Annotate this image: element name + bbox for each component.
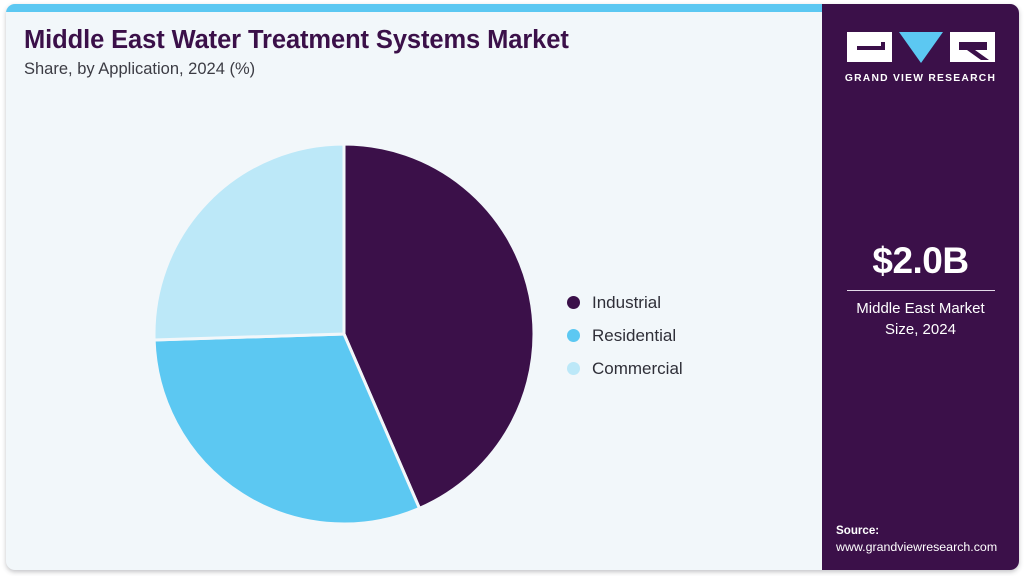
brand-logo[interactable]: GRAND VIEW RESEARCH <box>822 30 1019 84</box>
source-block: Source: www.grandviewresearch.com <box>836 522 1016 556</box>
source-url[interactable]: www.grandviewresearch.com <box>836 539 1016 556</box>
legend-swatch-residential <box>567 329 580 342</box>
infographic-card: Middle East Water Treatment Systems Mark… <box>6 4 1019 570</box>
pie-chart <box>146 136 542 532</box>
brand-logo-text: GRAND VIEW RESEARCH <box>822 73 1019 84</box>
legend-label-residential: Residential <box>592 326 676 346</box>
page-title: Middle East Water Treatment Systems Mark… <box>24 26 569 55</box>
market-size-caption-line1: Middle East Market <box>856 300 984 317</box>
legend-label-industrial: Industrial <box>592 293 661 313</box>
legend-label-commercial: Commercial <box>592 359 683 379</box>
pie-chart-svg <box>146 136 542 532</box>
chart-legend: Industrial Residential Commercial <box>567 286 787 385</box>
market-size-value: $2.0B <box>822 242 1019 281</box>
legend-item-commercial[interactable]: Commercial <box>567 352 787 385</box>
legend-swatch-commercial <box>567 362 580 375</box>
screenshot-root: Middle East Water Treatment Systems Mark… <box>0 0 1025 576</box>
legend-item-industrial[interactable]: Industrial <box>567 286 787 319</box>
market-size-stat: $2.0B Middle East Market Size, 2024 <box>822 242 1019 340</box>
market-size-caption: Middle East Market Size, 2024 <box>822 299 1019 340</box>
legend-swatch-industrial <box>567 296 580 309</box>
legend-item-residential[interactable]: Residential <box>567 319 787 352</box>
gvr-logo-icon <box>847 30 995 66</box>
chart-pane: Middle East Water Treatment Systems Mark… <box>6 4 822 570</box>
source-label: Source: <box>836 522 1016 539</box>
pie-slice-commercial[interactable] <box>154 144 344 340</box>
page-subtitle: Share, by Application, 2024 (%) <box>24 60 255 79</box>
stat-divider <box>847 290 995 292</box>
brand-panel: GRAND VIEW RESEARCH $2.0B Middle East Ma… <box>822 4 1019 570</box>
market-size-caption-line2: Size, 2024 <box>885 321 956 338</box>
